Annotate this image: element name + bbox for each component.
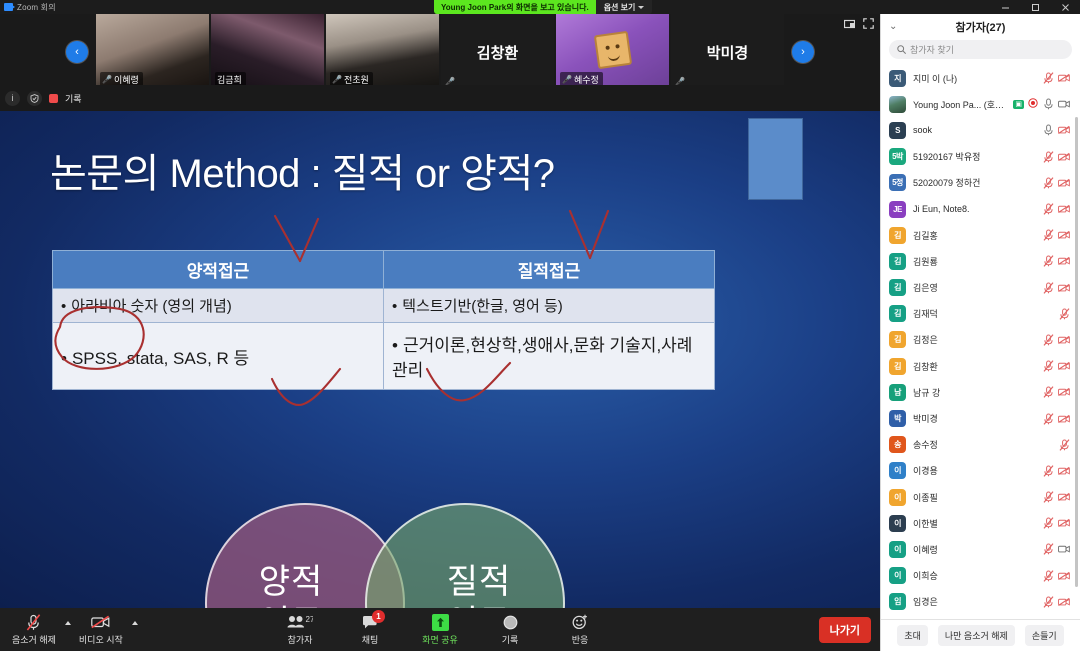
- zoom-app-icon: [4, 3, 13, 11]
- chat-label: 채팅: [362, 633, 379, 646]
- camera-off-icon: [1058, 334, 1070, 346]
- participants-label: 참가자: [288, 633, 313, 646]
- record-label: 기록: [502, 633, 519, 646]
- view-options-button[interactable]: 옵션 보기: [596, 0, 653, 14]
- record-icon: [503, 614, 518, 631]
- participant-status-icons: [1042, 465, 1070, 477]
- slide-title: 논문의 Method : 질적 or 양적?: [50, 141, 555, 199]
- participant-row[interactable]: 남남규 강: [881, 379, 1080, 405]
- participants-panel-footer: 초대 나만 음소거 해제 손들기: [881, 619, 1080, 651]
- filmstrip-tools: [844, 18, 874, 29]
- camera-off-icon: [1058, 517, 1070, 529]
- table-header-cell: 양적접근: [53, 251, 384, 289]
- participants-icon: 27: [287, 614, 313, 631]
- window-controls: [990, 0, 1080, 14]
- microphone-muted-icon: [1042, 543, 1054, 555]
- microphone-muted-icon: [1042, 517, 1054, 529]
- video-options-chevron-icon[interactable]: [132, 621, 138, 625]
- camera-off-icon: [1058, 72, 1070, 84]
- video-tile[interactable]: 김금희: [211, 14, 324, 90]
- microphone-muted-icon: [1042, 596, 1054, 608]
- participant-row[interactable]: 김김재덕: [881, 301, 1080, 327]
- participant-name: 51920167 박유정: [913, 150, 1035, 163]
- microphone-muted-icon: [1058, 308, 1070, 320]
- participant-status-icons: [1042, 177, 1070, 189]
- participant-name: 이희승: [913, 569, 1035, 582]
- participant-status-icons: [1042, 491, 1070, 503]
- avatar: 이: [889, 515, 906, 532]
- participants-list[interactable]: 지지미 이 (나)Young Joon Pa... (호스트)▣Ssook5박5…: [881, 65, 1080, 619]
- participant-status-icons: [1058, 439, 1070, 451]
- participant-status-icons: [1042, 543, 1070, 555]
- participant-status-icons: [1042, 124, 1070, 136]
- share-screen-label: 화면 공유: [422, 633, 458, 646]
- participant-row[interactable]: 김김창환: [881, 353, 1080, 379]
- camera-off-icon: [1058, 413, 1070, 425]
- participant-name: 송수정: [913, 438, 1051, 451]
- participants-search-box[interactable]: [889, 40, 1072, 59]
- participant-row[interactable]: 김김은영: [881, 275, 1080, 301]
- table-row: •아라비아 숫자 (영의 개념) •텍스트기반(한글, 영어 등): [53, 289, 715, 323]
- participant-name: 이종필: [913, 491, 1035, 504]
- share-banner-message: Young Joon Park의 화면을 보고 있습니다.: [434, 0, 596, 14]
- venn-circle-qualitative: 질적 연구: [365, 503, 565, 608]
- microphone-muted-icon: [1042, 229, 1054, 241]
- meeting-control-bar: 음소거 해제 비디오 시작: [0, 608, 880, 651]
- search-icon: [897, 41, 906, 59]
- leave-meeting-button[interactable]: 나가기: [819, 617, 871, 643]
- participants-panel-title: 참가자(27): [881, 19, 1080, 35]
- slide-blue-rectangle: [748, 118, 803, 200]
- participant-status-icons: [1042, 72, 1070, 84]
- camera-off-icon: [1058, 360, 1070, 372]
- camera-off-icon: [1058, 386, 1070, 398]
- microphone-muted-icon: [1042, 413, 1054, 425]
- participant-name: Ji Eun, Note8.: [913, 204, 1035, 214]
- participant-name: 김창환: [913, 360, 1035, 373]
- filmstrip-tiles: 🎤이혜령김금희🎤전초원김창환🎤🎤혜수정박미경🎤: [96, 14, 784, 90]
- center-controls-group: 27 참가자 1 채팅 화면: [273, 608, 607, 651]
- participant-status-icons: [1042, 151, 1070, 163]
- camera-off-icon: [1058, 596, 1070, 608]
- view-layout-icon[interactable]: [844, 19, 855, 29]
- avatar: 김: [889, 253, 906, 270]
- participant-name: 박미경: [913, 412, 1035, 425]
- avatar: 김: [889, 279, 906, 296]
- avatar: 이: [889, 541, 906, 558]
- microphone-muted-icon: 🎤: [102, 76, 112, 84]
- video-tile[interactable]: 🎤혜수정: [556, 14, 669, 90]
- participant-row[interactable]: 이이혜령: [881, 536, 1080, 562]
- participant-name: 임경은: [913, 595, 1035, 608]
- camera-off-icon: [1058, 491, 1070, 503]
- participant-status-icons: [1042, 570, 1070, 582]
- table-cell-text: SPSS, stata, SAS, R 등: [72, 349, 249, 368]
- participant-row[interactable]: 이이한별: [881, 510, 1080, 536]
- microphone-muted-icon: [1042, 203, 1054, 215]
- reactions-button[interactable]: 반응: [553, 608, 607, 651]
- avatar: 남: [889, 384, 906, 401]
- microphone-icon: [1042, 124, 1054, 136]
- view-options-label: 옵션 보기: [604, 2, 636, 13]
- microphone-muted-icon: [1042, 72, 1054, 84]
- info-icon[interactable]: i: [5, 91, 20, 106]
- participants-search-input[interactable]: [910, 45, 1064, 55]
- filmstrip-next-button[interactable]: ›: [792, 41, 814, 63]
- record-button[interactable]: 기록: [483, 608, 537, 651]
- participant-row[interactable]: 이이희승: [881, 563, 1080, 589]
- share-screen-button[interactable]: 화면 공유: [413, 608, 467, 651]
- camera-off-icon: [1058, 177, 1070, 189]
- microphone-muted-icon: [1042, 386, 1054, 398]
- participant-status-icons: [1042, 386, 1070, 398]
- avatar: JE: [889, 201, 906, 218]
- avatar: [889, 96, 906, 113]
- table-header-row: 양적접근 질적접근: [53, 251, 715, 289]
- chat-button[interactable]: 1 채팅: [343, 608, 397, 651]
- participant-status-icons: ▣: [1013, 98, 1070, 110]
- participant-name: 김재덕: [913, 307, 1051, 320]
- avatar: 이: [889, 489, 906, 506]
- close-button[interactable]: [1050, 0, 1080, 14]
- microphone-muted-icon: 🎤: [562, 76, 572, 84]
- microphone-muted-icon: [26, 614, 41, 631]
- participant-status-icons: [1042, 360, 1070, 372]
- participant-row[interactable]: 김김길홍: [881, 222, 1080, 248]
- microphone-muted-icon: [1042, 465, 1054, 477]
- reactions-label: 반응: [572, 633, 589, 646]
- avatar: 김: [889, 358, 906, 375]
- share-screen-icon: [432, 614, 449, 631]
- participant-row[interactable]: 5정52020079 정하건: [881, 170, 1080, 196]
- participant-row[interactable]: 김김정은: [881, 327, 1080, 353]
- camera-icon: [1058, 543, 1070, 555]
- participant-status-icons: [1042, 596, 1070, 608]
- table-cell: •SPSS, stata, SAS, R 등: [53, 323, 384, 390]
- participant-row[interactable]: JEJi Eun, Note8.: [881, 196, 1080, 222]
- start-video-button[interactable]: 비디오 시작: [73, 608, 129, 651]
- camera-off-icon: [1058, 124, 1070, 136]
- camera-off-icon: [91, 614, 110, 631]
- participant-row[interactable]: 지지미 이 (나): [881, 65, 1080, 91]
- participant-row[interactable]: 5박51920167 박유정: [881, 144, 1080, 170]
- avatar: 이: [889, 567, 906, 584]
- participant-name: 남규 강: [913, 386, 1035, 399]
- table-cell: •아라비아 숫자 (영의 개념): [53, 289, 384, 323]
- maximize-button[interactable]: [1020, 0, 1050, 14]
- participant-row[interactable]: 이이경용: [881, 458, 1080, 484]
- avatar: S: [889, 122, 906, 139]
- recording-indicator-icon: [49, 94, 58, 103]
- participant-row[interactable]: 김김원룡: [881, 248, 1080, 274]
- video-tile[interactable]: 박미경🎤: [671, 14, 784, 90]
- microphone-muted-icon: [1042, 334, 1054, 346]
- participant-name: 52020079 정하건: [913, 176, 1035, 189]
- participant-name: 지미 이 (나): [913, 72, 1035, 85]
- reactions-smiley-icon: [572, 614, 588, 631]
- microphone-muted-icon: [1042, 491, 1054, 503]
- microphone-muted-icon: [1042, 151, 1054, 163]
- video-tile[interactable]: 🎤이혜령: [96, 14, 209, 90]
- participant-row[interactable]: 송송수정: [881, 432, 1080, 458]
- participant-row[interactable]: Ssook: [881, 117, 1080, 143]
- shared-screen-stage: 논문의 Method : 질적 or 양적? 양적접근 질적접근 •아라비아 숫…: [0, 111, 880, 608]
- participants-panel: ⌄ 참가자(27) 지지미 이 (나)Young Joon Pa... (호스트…: [880, 14, 1080, 651]
- minimize-button[interactable]: [990, 0, 1020, 14]
- smiley-mouth: [607, 53, 620, 63]
- camera-off-icon: [1058, 282, 1070, 294]
- screen-share-banner: Young Joon Park의 화면을 보고 있습니다. 옵션 보기: [434, 0, 652, 14]
- camera-off-icon: [1058, 465, 1070, 477]
- avatar: 5박: [889, 148, 906, 165]
- camera-off-icon: [1058, 151, 1070, 163]
- window-title: Zoom 회의: [17, 2, 56, 13]
- participant-status-icons: [1058, 308, 1070, 320]
- video-filmstrip: ‹ 🎤이혜령김금희🎤전초원김창환🎤🎤혜수정박미경🎤 ›: [0, 14, 880, 90]
- avatar: 송: [889, 436, 906, 453]
- table-cell-text: 근거이론,현상학,생애사,문화 기술지,사례관리: [392, 336, 692, 380]
- avatar: 박: [889, 410, 906, 427]
- camera-off-icon: [1058, 229, 1070, 241]
- avatar: 이: [889, 462, 906, 479]
- participant-status-icons: [1042, 517, 1070, 529]
- table-header-cell: 질적접근: [384, 251, 715, 289]
- participant-name: Young Joon Pa... (호스트): [913, 98, 1006, 111]
- participants-search-wrap: [881, 40, 1080, 65]
- avatar: 5정: [889, 174, 906, 191]
- microphone-icon: [1042, 98, 1054, 110]
- shield-icon[interactable]: [27, 91, 42, 106]
- host-badge-icon: ▣: [1013, 100, 1024, 109]
- participant-name: 김은영: [913, 281, 1035, 294]
- slide-comparison-table: 양적접근 질적접근 •아라비아 숫자 (영의 개념) •텍스트기반(한글, 영어…: [52, 250, 715, 390]
- participant-status-icons: [1042, 229, 1070, 241]
- microphone-muted-icon: [1058, 439, 1070, 451]
- av-controls-group: 음소거 해제 비디오 시작: [6, 608, 138, 651]
- participants-panel-header: ⌄ 참가자(27): [881, 14, 1080, 40]
- mute-button[interactable]: 음소거 해제: [6, 608, 62, 651]
- table-cell-text: 아라비아 숫자 (영의 개념): [71, 298, 232, 315]
- avatar: 김: [889, 227, 906, 244]
- recording-badge-icon: [1028, 98, 1038, 110]
- participant-row[interactable]: 이이종필: [881, 484, 1080, 510]
- participant-name: 이경용: [913, 464, 1035, 477]
- audio-options-chevron-icon[interactable]: [65, 621, 71, 625]
- participant-row[interactable]: 임임경은: [881, 589, 1080, 615]
- microphone-muted-icon: [1042, 255, 1054, 267]
- venn-diagram: 양적 연구 질적 연구: [205, 503, 565, 608]
- filmstrip-left-pad: ‹: [0, 14, 96, 90]
- microphone-muted-icon: 🎤: [332, 76, 342, 84]
- participant-status-icons: [1042, 255, 1070, 267]
- participant-name: sook: [913, 125, 1035, 135]
- start-video-label: 비디오 시작: [79, 633, 123, 646]
- table-cell-text: 텍스트기반(한글, 영어 등): [402, 298, 563, 315]
- microphone-muted-icon: [1042, 177, 1054, 189]
- avatar: 임: [889, 593, 906, 610]
- filmstrip-prev-button[interactable]: ‹: [66, 41, 88, 63]
- table-row: •SPSS, stata, SAS, R 등 •근거이론,현상학,생애사,문화 …: [53, 323, 715, 390]
- recording-label: 기록: [65, 92, 82, 105]
- mute-button-label: 음소거 해제: [12, 633, 56, 646]
- microphone-muted-icon: [1042, 570, 1054, 582]
- microphone-muted-icon: [1042, 282, 1054, 294]
- participant-status-icons: [1042, 334, 1070, 346]
- participant-name: 김길홍: [913, 229, 1035, 242]
- avatar: 지: [889, 70, 906, 87]
- zoom-meeting-window: Zoom 회의 Young Joon Park의 화면을 보고 있습니다. 옵션…: [0, 0, 1080, 651]
- smiley-drawing-icon: [593, 31, 631, 69]
- participant-status-icons: [1042, 282, 1070, 294]
- venn-right-line1: 질적: [419, 562, 512, 603]
- svg-text:27: 27: [306, 615, 314, 624]
- microphone-muted-icon: [1042, 360, 1054, 372]
- avatar: 김: [889, 305, 906, 322]
- raise-hand-button[interactable]: 손들기: [1025, 625, 1064, 646]
- video-tile[interactable]: 김창환🎤: [441, 14, 554, 90]
- filmstrip-right-pad: ›: [784, 14, 880, 90]
- participant-row[interactable]: Young Joon Pa... (호스트)▣: [881, 91, 1080, 117]
- participant-name: 이한별: [913, 517, 1035, 530]
- participant-name: 이혜령: [913, 543, 1035, 556]
- camera-off-icon: [1058, 570, 1070, 582]
- participant-row[interactable]: 박박미경: [881, 405, 1080, 431]
- table-cell: •텍스트기반(한글, 영어 등): [384, 289, 715, 323]
- chevron-down-icon: [638, 6, 644, 9]
- camera-off-icon: [1058, 203, 1070, 215]
- unmute-self-button[interactable]: 나만 음소거 해제: [938, 625, 1015, 646]
- chat-unread-badge: 1: [372, 610, 385, 623]
- video-tile[interactable]: 🎤전초원: [326, 14, 439, 90]
- camera-icon: [1058, 98, 1070, 110]
- participants-scrollbar-thumb[interactable]: [1075, 117, 1078, 587]
- meeting-info-row: i 기록: [0, 85, 880, 111]
- participant-status-icons: [1042, 203, 1070, 215]
- participants-button[interactable]: 27 참가자: [273, 608, 327, 651]
- invite-button[interactable]: 초대: [897, 625, 928, 646]
- table-cell: •근거이론,현상학,생애사,문화 기술지,사례관리: [384, 323, 715, 390]
- avatar: 김: [889, 331, 906, 348]
- participant-status-icons: [1042, 413, 1070, 425]
- participant-name: 김원룡: [913, 255, 1035, 268]
- participant-name: 김정은: [913, 333, 1035, 346]
- chevron-down-icon[interactable]: ⌄: [889, 22, 897, 32]
- fullscreen-icon[interactable]: [863, 18, 874, 29]
- camera-off-icon: [1058, 255, 1070, 267]
- venn-left-line1: 양적: [259, 562, 352, 603]
